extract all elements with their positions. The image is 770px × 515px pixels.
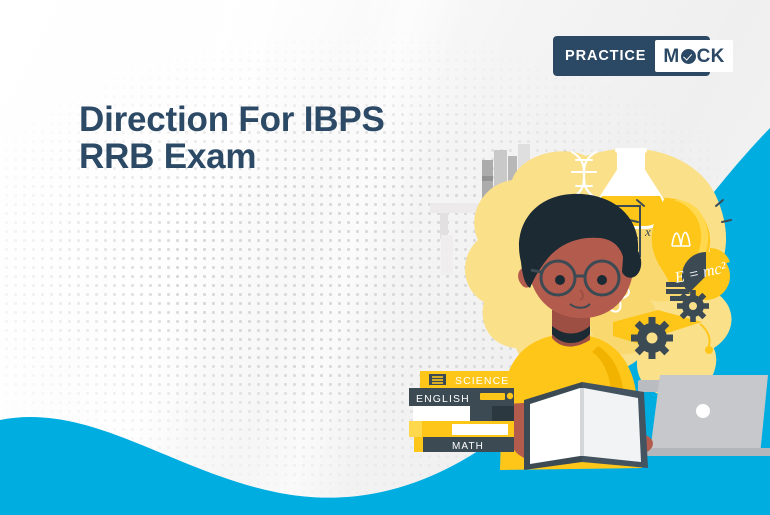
logo-mock-text: M CK: [663, 47, 724, 66]
page-title-line-2: RRB Exam: [79, 138, 479, 175]
svg-text:x: x: [644, 224, 651, 239]
svg-text:SCIENCE: SCIENCE: [455, 375, 509, 387]
book-stack: SCIENCE ENGLISH MATH: [409, 371, 514, 452]
illustration: x: [0, 0, 770, 515]
svg-text:ENGLISH: ENGLISH: [416, 393, 470, 405]
gear-icon: [631, 317, 673, 359]
page-title-line-1: Direction For IBPS: [79, 101, 479, 138]
gear-small-icon: [677, 290, 709, 322]
practice-mock-logo[interactable]: PRACTICE M CK: [553, 36, 710, 76]
check-in-circle-icon: [681, 49, 696, 64]
open-book: [524, 382, 648, 470]
logo-mock-box: M CK: [655, 40, 732, 72]
logo-mock-m: M: [663, 47, 679, 66]
logo-practice-text: PRACTICE: [557, 49, 655, 64]
svg-text:MATH: MATH: [452, 441, 484, 452]
promo-banner: x: [0, 0, 770, 515]
page-title: Direction For IBPS RRB Exam: [79, 101, 479, 175]
logo-mock-ck: CK: [697, 47, 725, 66]
